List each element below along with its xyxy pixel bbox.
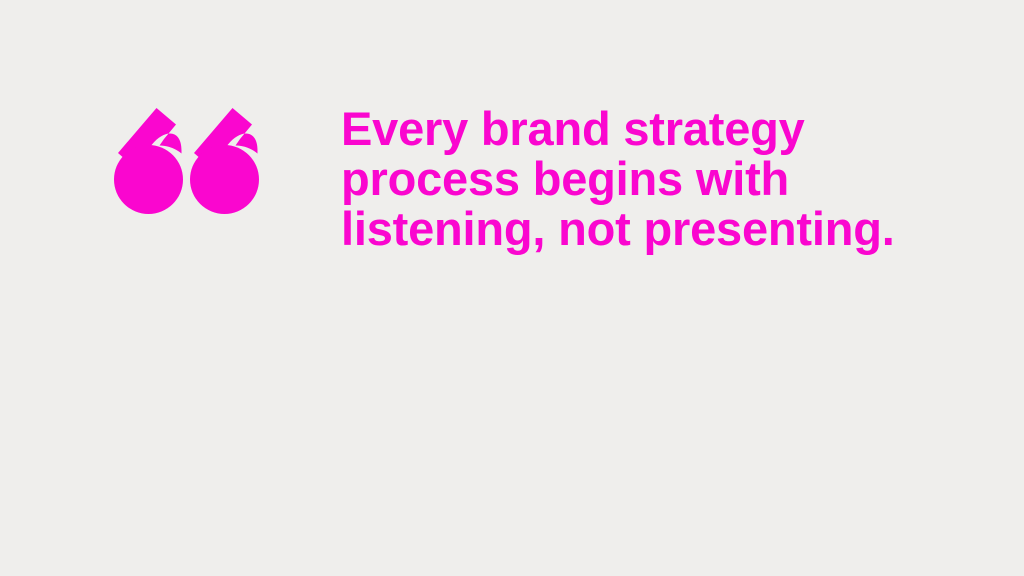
double-quotation-mark-open-icon [112, 106, 260, 216]
quote-line-3: listening, not presenting. [341, 204, 961, 254]
quote-slide: Every brand strategy process begins with… [0, 0, 1024, 576]
quote-line-1: Every brand strategy [341, 104, 961, 154]
quote-text-block: Every brand strategy process begins with… [341, 104, 961, 254]
quote-line-2: process begins with [341, 154, 961, 204]
